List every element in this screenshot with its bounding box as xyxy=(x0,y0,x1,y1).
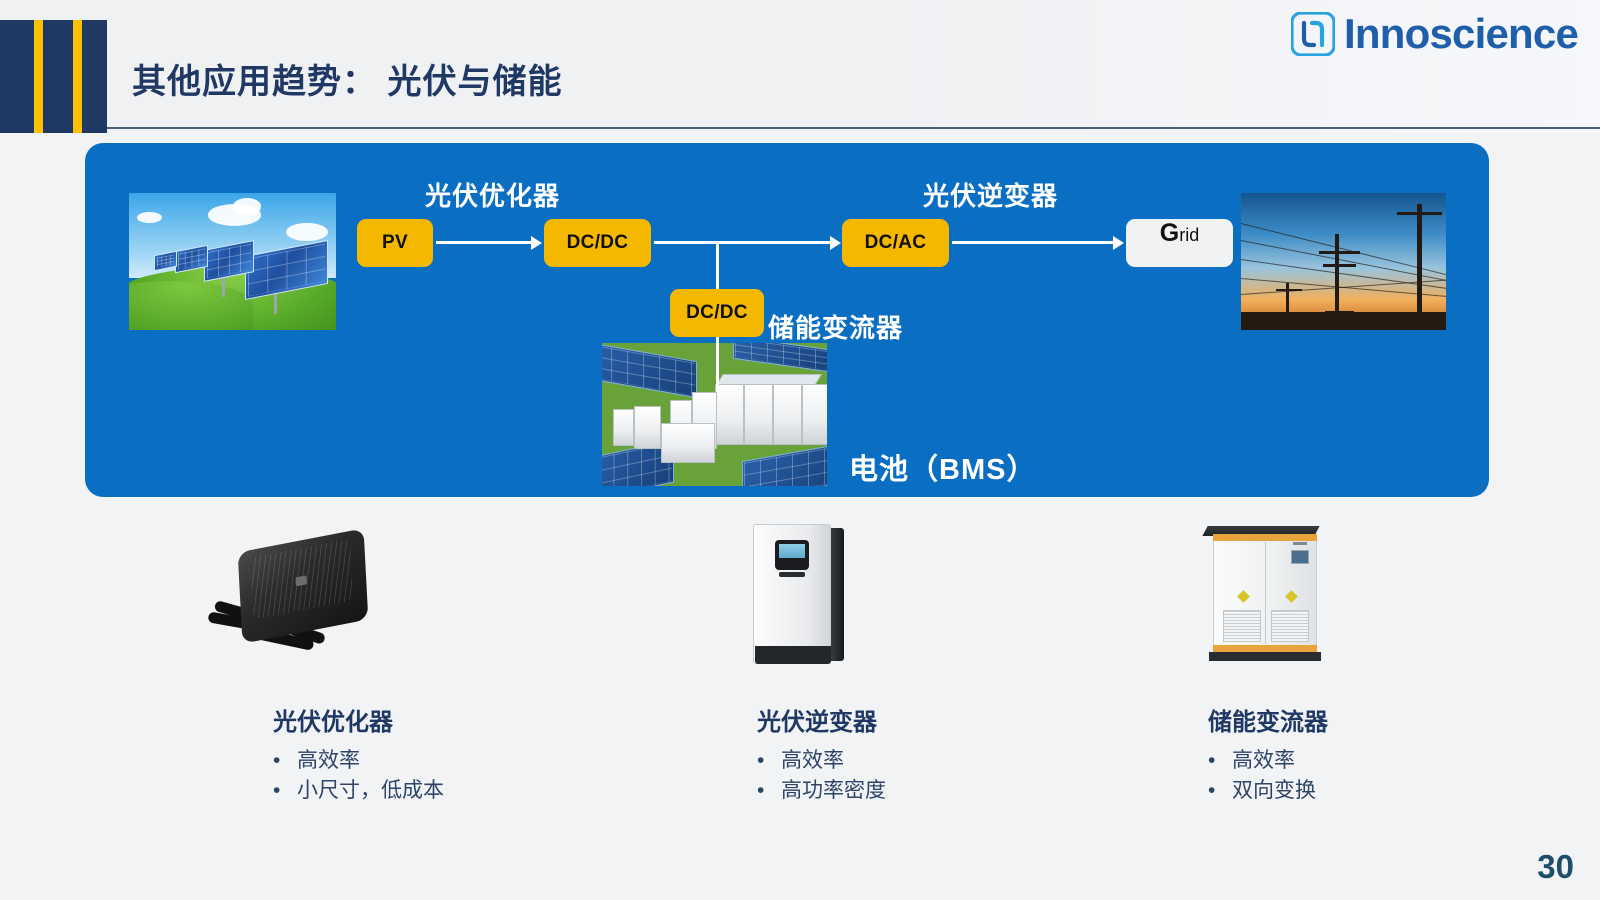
bullet-marker: • xyxy=(1208,746,1215,776)
label-pv-optimizer: 光伏优化器 xyxy=(425,176,560,213)
battery-container xyxy=(613,409,633,446)
label-storage-converter: 储能变流器 xyxy=(768,308,903,345)
cabinet-vent-grille xyxy=(1223,610,1261,642)
grid-label-capital: G xyxy=(1160,219,1179,248)
header-navy-block xyxy=(0,20,107,133)
cabinet-vent-grille xyxy=(1271,610,1309,642)
arrowhead-dcac-to-grid xyxy=(1113,236,1124,250)
cabinet-bottom-stripe xyxy=(1213,645,1317,652)
pv-optimizer-photo xyxy=(200,512,620,677)
cabinet-hmi-screen xyxy=(1291,550,1309,564)
block-dcdc-storage[interactable]: DC/DC xyxy=(670,289,764,337)
panel-post xyxy=(222,275,225,297)
inverter-assembly xyxy=(735,512,865,677)
energy-storage-converter-photo xyxy=(1135,512,1555,677)
inverter-base xyxy=(755,646,831,664)
list-item: •高效率 xyxy=(755,746,1100,776)
page-number: 30 xyxy=(1537,848,1574,886)
brand-logo: Innoscience xyxy=(1291,12,1578,56)
label-battery-bms: 电池（BMS） xyxy=(849,446,1036,488)
inverter-skid xyxy=(661,423,715,463)
bullet-marker: • xyxy=(757,746,764,776)
list-item: •高功率密度 xyxy=(755,776,1100,806)
cabinet-indicator-lights xyxy=(1293,542,1307,545)
product-title-optimizer: 光伏优化器 xyxy=(200,702,620,737)
pylon-mast-right xyxy=(1417,204,1422,316)
horizon-ground xyxy=(1241,312,1446,330)
bullet-text: 双向变换 xyxy=(1232,779,1316,802)
pylon-crossarm xyxy=(1323,264,1356,267)
inverter-side-panel xyxy=(830,528,844,661)
header-divider-rule xyxy=(107,127,1600,129)
battery-container xyxy=(802,384,827,444)
arrowhead-pv-to-dcdc xyxy=(531,236,542,250)
cloud xyxy=(286,223,327,241)
bullet-text: 高功率密度 xyxy=(781,779,886,802)
cabinet-top-stripe xyxy=(1213,534,1317,541)
product-bullets-pcs: •高效率 •双向变换 xyxy=(1135,746,1555,806)
product-bullets-optimizer: •高效率 •小尺寸，低成本 xyxy=(200,746,620,806)
power-grid-image xyxy=(1241,193,1446,330)
battery-container xyxy=(715,384,744,444)
inverter-button-row xyxy=(779,572,805,577)
ess-cabinet-assembly xyxy=(1183,512,1353,677)
bullet-marker: • xyxy=(1208,776,1215,806)
battery-container xyxy=(773,384,802,444)
arrowhead-dcdc-to-dcac xyxy=(830,236,841,250)
block-pv[interactable]: PV xyxy=(357,219,433,267)
bullet-text: 高效率 xyxy=(1232,749,1295,772)
architecture-diagram-panel: 光伏优化器 光伏逆变器 储能变流器 电池（BMS） PV DC/DC DC/AC… xyxy=(85,143,1489,497)
inverter-lcd-display xyxy=(775,540,809,570)
product-title-pcs: 储能变流器 xyxy=(1135,702,1555,737)
bullet-marker: • xyxy=(273,776,280,806)
header-yellow-stripe-2 xyxy=(73,20,82,133)
solar-farm-image xyxy=(129,193,336,330)
pylon-crossarm xyxy=(1276,289,1303,291)
logo-wordmark: Innoscience xyxy=(1344,13,1578,55)
product-bullets-inverter: •高效率 •高功率密度 xyxy=(680,746,1100,806)
cabinet-plinth xyxy=(1209,652,1321,661)
product-column-inverter: 光伏逆变器 •高效率 •高功率密度 xyxy=(680,512,1100,806)
bullet-marker: • xyxy=(757,776,764,806)
list-item: •双向变换 xyxy=(1206,776,1555,806)
block-grid[interactable]: G rid xyxy=(1126,219,1233,267)
cloud xyxy=(233,198,262,214)
list-item: •高效率 xyxy=(271,746,620,776)
page-title: 其他应用趋势： 光伏与储能 xyxy=(132,54,562,103)
connector-dcac-to-grid xyxy=(952,241,1114,244)
grid-label-rest: rid xyxy=(1179,225,1199,246)
connector-bus-to-storage xyxy=(716,242,719,290)
label-pv-inverter: 光伏逆变器 xyxy=(923,176,1058,213)
innoscience-logo-mark xyxy=(1291,12,1335,56)
battery-storage-image xyxy=(602,343,827,486)
pylon-crossarm xyxy=(1319,251,1360,254)
bullet-marker: • xyxy=(273,746,280,776)
connector-dcdc-to-dcac xyxy=(654,241,831,244)
list-item: •小尺寸，低成本 xyxy=(271,776,620,806)
optimizer-housing xyxy=(238,528,369,643)
connector-pv-to-dcdc xyxy=(436,241,533,244)
pylon-base xyxy=(1325,311,1354,314)
list-item: •高效率 xyxy=(1206,746,1555,776)
slide-header: 其他应用趋势： 光伏与储能 Innoscience xyxy=(0,0,1600,133)
cabinet-door-seam xyxy=(1265,542,1266,644)
pylon-crossarm xyxy=(1397,212,1442,215)
block-dcdc-optimizer[interactable]: DC/DC xyxy=(544,219,651,267)
header-yellow-stripe-1 xyxy=(34,20,43,133)
pv-inverter-photo xyxy=(680,512,1100,677)
connector-storage-to-battery xyxy=(716,336,719,392)
bullet-text: 高效率 xyxy=(297,749,360,772)
battery-container xyxy=(744,384,773,444)
bullet-text: 小尺寸，低成本 xyxy=(297,779,444,802)
product-column-pcs: 储能变流器 •高效率 •双向变换 xyxy=(1135,512,1555,806)
product-column-optimizer: 光伏优化器 •高效率 •小尺寸，低成本 xyxy=(200,512,620,806)
bullet-text: 高效率 xyxy=(781,749,844,772)
pylon-mast xyxy=(1335,234,1339,313)
block-dcac-inverter[interactable]: DC/AC xyxy=(842,219,949,267)
product-title-inverter: 光伏逆变器 xyxy=(680,702,1100,737)
battery-container xyxy=(634,406,661,449)
